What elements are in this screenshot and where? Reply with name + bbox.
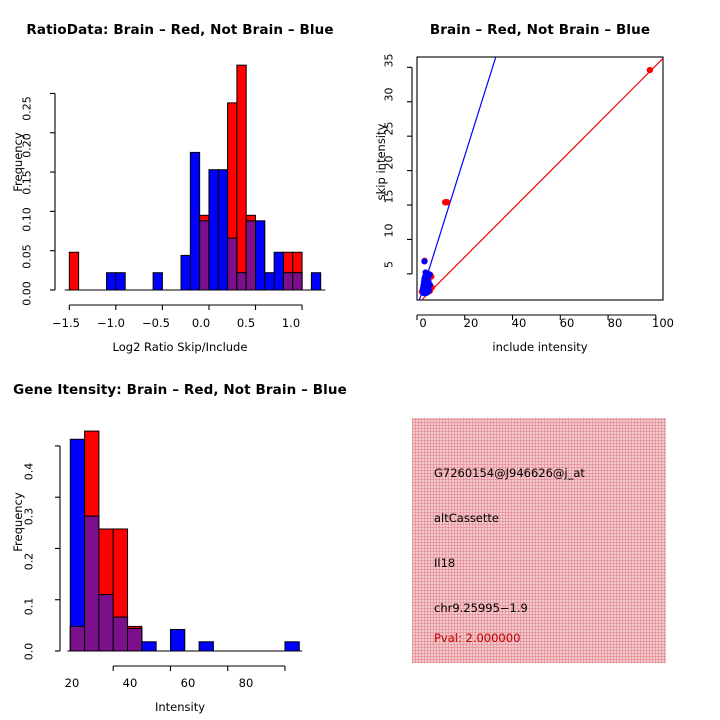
bar-blue — [107, 273, 116, 290]
ratio-histogram-plot — [0, 0, 360, 360]
panel-gene-intensity-histogram: Gene Itensity: Brain – Red, Not Brain – … — [0, 360, 360, 720]
bar-blue — [181, 255, 190, 290]
bar-blue — [199, 642, 213, 651]
bar-blue — [116, 273, 125, 290]
bar-overlap — [70, 626, 84, 651]
event-type-text: altCassette — [434, 511, 499, 525]
point-brain — [647, 67, 653, 73]
bar-blue — [274, 252, 283, 290]
bar-blue — [153, 273, 162, 290]
gene-bars — [70, 431, 299, 651]
bar-blue — [209, 170, 218, 290]
point-not-brain — [421, 258, 427, 264]
bar-blue — [190, 152, 199, 290]
point-not-brain — [425, 278, 431, 284]
bar-red — [69, 252, 78, 290]
scatter-x-axis — [417, 315, 656, 320]
figure-canvas: RatioData: Brain – Red, Not Brain – Blue… — [0, 0, 720, 720]
bar-blue — [285, 642, 299, 651]
location-text: chr9.25995−1.9 — [434, 601, 528, 615]
bar-overlap — [246, 221, 255, 290]
bar-blue — [218, 170, 227, 290]
bar-blue — [265, 273, 274, 290]
bar-overlap — [283, 273, 292, 290]
bar-overlap — [293, 273, 302, 290]
bar-red — [237, 65, 246, 290]
probe-info-box: G7260154@J946626@j_at altCassette Il18 c… — [412, 418, 666, 663]
gene-symbol-text: Il18 — [434, 556, 455, 570]
scatter-plot-box — [417, 57, 663, 300]
scatter-plot — [360, 0, 720, 360]
ratio-x-axis — [69, 305, 302, 310]
gene-x-axis — [113, 666, 285, 671]
probe-id-text: G7260154@J946626@j_at — [434, 466, 585, 480]
panel-intensity-scatter: Brain – Red, Not Brain – Blue skip inten… — [360, 0, 720, 360]
ratio-y-axis — [50, 93, 55, 290]
bar-overlap — [128, 628, 142, 651]
ratio-bars — [69, 65, 320, 290]
panel-ratio-histogram: RatioData: Brain – Red, Not Brain – Blue… — [0, 0, 360, 360]
bar-blue — [170, 629, 184, 651]
scatter-points — [419, 67, 653, 296]
bar-blue — [142, 642, 156, 651]
bar-overlap — [99, 595, 113, 651]
point-not-brain — [426, 287, 432, 293]
scatter-fit-lines — [374, 0, 720, 349]
panel-probe-info: G7260154@J946626@j_at altCassette Il18 c… — [360, 360, 720, 720]
bar-overlap — [200, 221, 209, 290]
point-brain — [444, 199, 450, 205]
bar-blue — [311, 273, 320, 290]
scatter-y-axis — [407, 67, 412, 274]
bar-overlap — [237, 273, 246, 290]
gene-histogram-plot — [0, 360, 360, 720]
bar-blue — [70, 439, 84, 651]
bar-overlap — [113, 617, 127, 651]
bar-overlap — [85, 516, 99, 651]
bar-overlap — [228, 238, 237, 290]
bar-blue — [256, 221, 265, 290]
gene-y-axis — [55, 446, 60, 651]
pvalue-text: Pval: 2.000000 — [434, 631, 520, 645]
point-not-brain — [427, 271, 433, 277]
